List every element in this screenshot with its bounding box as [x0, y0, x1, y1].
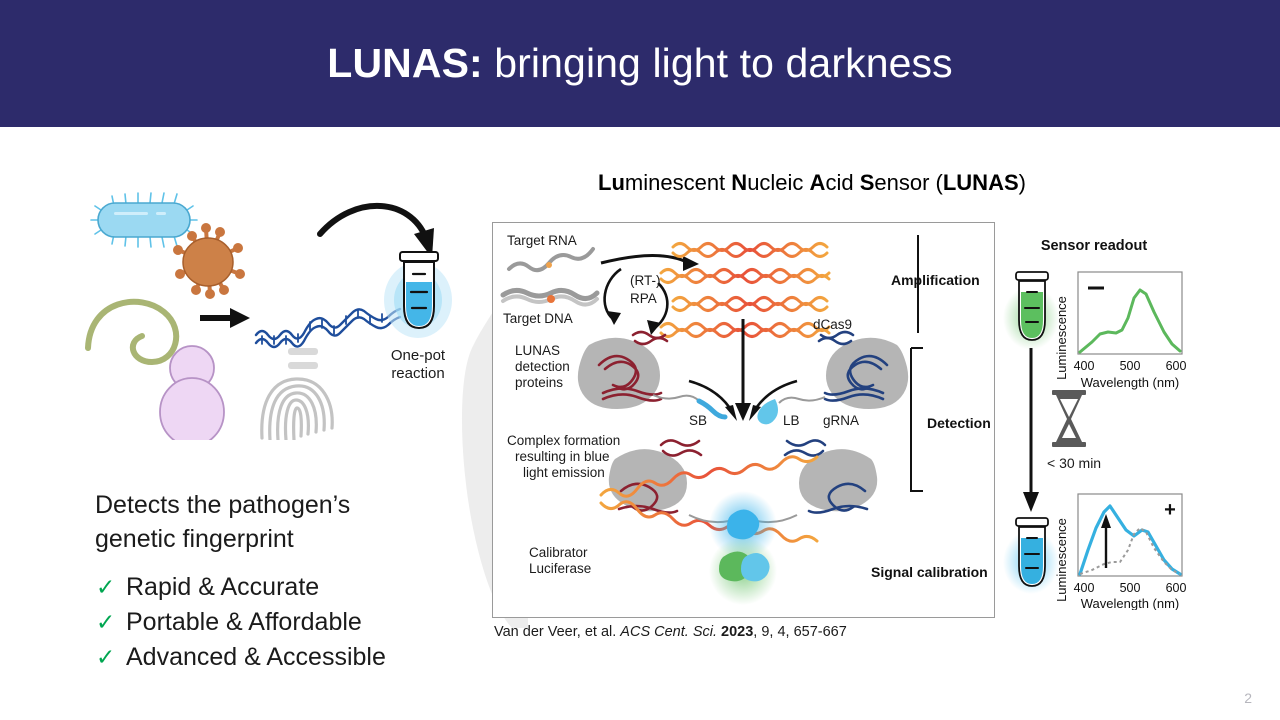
list-item: ✓ Advanced & Accessible [96, 640, 516, 675]
heading-part-6: S [860, 170, 875, 195]
label-calibrator-line1: Calibrator [529, 545, 588, 560]
label-lunas-line3: proteins [515, 375, 563, 390]
label-complex-line3: light emission [523, 465, 605, 480]
slide-number: 2 [1244, 690, 1252, 706]
xtick-600-negative: 600 [1166, 359, 1187, 373]
complex-right [785, 440, 877, 512]
label-target-rna: Target RNA [507, 233, 577, 248]
timer-label: < 30 min [1047, 455, 1101, 471]
tube-negative-icon [1003, 272, 1059, 350]
bullet-label: Portable & Affordable [126, 605, 362, 640]
spectrum-chart-negative: Luminescence 400 500 600 Wavelength (nm) [1054, 272, 1186, 390]
citation: Van der Veer, et al. ACS Cent. Sci. 2023… [494, 624, 847, 640]
spectrum-chart-positive: Luminescence + 400 500 600 Wavelength (n… [1054, 494, 1186, 610]
label-target-dna: Target DNA [503, 311, 573, 326]
chart-xlabel-negative: Wavelength (nm) [1081, 375, 1180, 390]
bacterium-icon [91, 193, 197, 247]
chart-ylabel-positive: Luminescence [1054, 518, 1069, 602]
page-title-bold: LUNAS: [327, 40, 482, 86]
label-complex-line1: Complex formation [507, 433, 620, 448]
xtick-500-negative: 500 [1120, 359, 1141, 373]
label-detection: Detection [927, 415, 991, 431]
label-lunas-line1: LUNAS [515, 343, 560, 358]
list-item: ✓ Rapid & Accurate [96, 570, 516, 605]
xtick-400-positive: 400 [1074, 581, 1095, 595]
list-item: ✓ Portable & Affordable [96, 605, 516, 640]
page-title-rest: bringing light to darkness [483, 40, 953, 86]
heading-part-3: ucleic [747, 170, 809, 195]
sensor-readout-panel: Sensor readout Luminescence [1000, 230, 1200, 610]
label-signal-calibration: Signal calibration [871, 564, 988, 580]
label-lb: LB [783, 413, 800, 428]
heading-part-1: minescent [625, 170, 731, 195]
label-rpa-line1: (RT-) [630, 273, 661, 288]
xtick-500-positive: 500 [1120, 581, 1141, 595]
heading-part-4: A [810, 170, 826, 195]
figure-heading: Luminescent Nucleic Acid Sensor (LUNAS) [492, 170, 1132, 196]
lunas-mechanism-figure: Target RNA Target DNA (RT-) RPA [492, 222, 995, 618]
yeast-icon [160, 346, 224, 440]
label-dcas9: dCas9 [813, 317, 852, 332]
xtick-400-negative: 400 [1074, 359, 1095, 373]
heading-part-7: ensor ( [874, 170, 942, 195]
label-calibrator-line2: Luciferase [529, 561, 591, 576]
hourglass-icon [1052, 390, 1086, 447]
lead-line-1: Detects the pathogen’s [95, 488, 495, 522]
check-icon: ✓ [96, 640, 116, 675]
equals-symbol-icon [288, 348, 318, 369]
amplicon-strands [661, 244, 829, 337]
dcas9-protein-left [578, 332, 725, 417]
heading-part-0: Lu [598, 170, 625, 195]
benefit-list: ✓ Rapid & Accurate ✓ Portable & Affordab… [96, 570, 516, 675]
chart-xlabel-positive: Wavelength (nm) [1081, 596, 1180, 610]
label-grna: gRNA [823, 413, 859, 428]
heading-part-2: N [731, 170, 747, 195]
target-dna-strand [503, 290, 597, 304]
page-title: LUNAS: bringing light to darkness [327, 43, 952, 84]
lead-statement: Detects the pathogen’s genetic fingerpri… [95, 488, 495, 556]
citation-authors: Van der Veer, et al. [494, 624, 620, 640]
label-sb: SB [689, 413, 707, 428]
citation-year: 2023 [717, 624, 753, 640]
label-complex-line2: resulting in blue [515, 449, 610, 464]
chart-ylabel-negative: Luminescence [1054, 296, 1069, 380]
readout-title: Sensor readout [1041, 238, 1148, 254]
nucleic-acid-strand-icon [256, 309, 400, 347]
fingerprint-icon [262, 379, 332, 440]
worm-icon [88, 302, 176, 362]
transfer-arrow-icon [320, 206, 434, 258]
bullet-label: Advanced & Accessible [126, 640, 386, 675]
check-icon: ✓ [96, 605, 116, 640]
slide-title-band: LUNAS: bringing light to darkness [0, 0, 1280, 127]
bullet-label: Rapid & Accurate [126, 570, 319, 605]
citation-pages: , 9, 4, 657-667 [753, 624, 847, 640]
label-lunas-line2: detection [515, 359, 570, 374]
lead-line-2: genetic fingerprint [95, 522, 495, 556]
tube-positive-icon [1003, 518, 1059, 594]
label-amplification: Amplification [891, 272, 980, 288]
conversion-arrow-icon [200, 308, 250, 328]
xtick-600-positive: 600 [1166, 581, 1187, 595]
virus-icon [173, 223, 245, 299]
heading-part-8: LUNAS [943, 170, 1019, 195]
label-rpa-line2: RPA [630, 291, 657, 306]
legend-positive-sign: + [1164, 499, 1176, 521]
dcas9-protein-right [757, 332, 908, 424]
check-icon: ✓ [96, 570, 116, 605]
slide-root: LUNAS: bringing light to darkness [0, 0, 1280, 720]
heading-part-5: cid [825, 170, 859, 195]
heading-part-9: ) [1019, 170, 1026, 195]
citation-journal: ACS Cent. Sci. [620, 624, 717, 640]
